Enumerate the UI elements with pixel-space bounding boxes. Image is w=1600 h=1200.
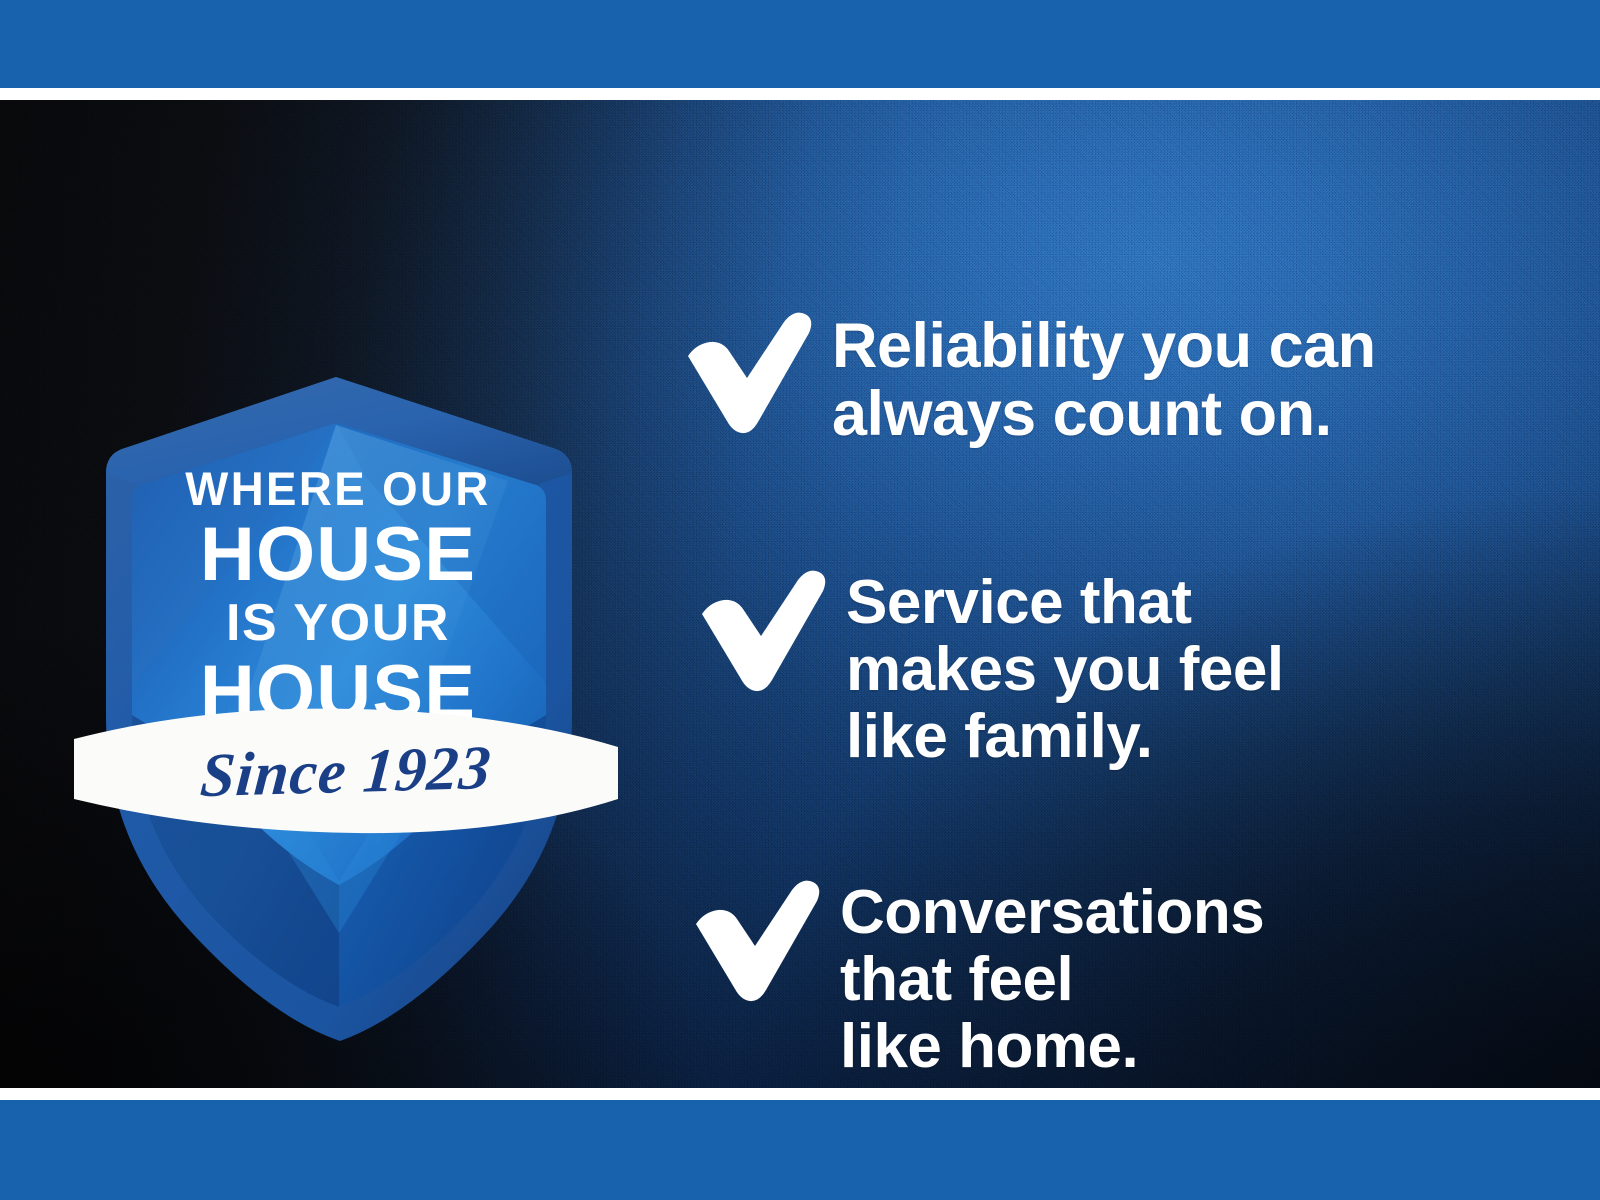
emblem-line-is-your: Is Your [78,597,598,649]
benefit-text-1: Reliability you can always count on. [832,312,1376,448]
ribbon-banner: Since 1923 [66,703,626,841]
ribbon-label: Since 1923 [61,695,631,849]
shield-emblem: Where Our House Is Your House Since 1923 [78,285,598,1045]
checkmark-icon [686,568,832,698]
benefit-item-1: Reliability you can always count on. [672,310,1376,448]
benefit-item-2: Service that makes you feel like family. [686,568,1284,771]
checkmark-glyph [680,878,826,1008]
top-brand-bar [0,0,1600,88]
checkmark-glyph [672,310,818,440]
benefit-text-2: Service that makes you feel like family. [846,570,1284,771]
checkmark-glyph [686,568,832,698]
emblem-line-where-our: Where Our [86,465,590,512]
checkmark-icon [680,878,826,1008]
checkmark-icon [672,310,818,440]
benefit-text-3: Conversations that feel like home. [840,880,1264,1081]
benefits-list: Reliability you can always count on. Ser… [672,200,1552,1088]
benefit-item-3: Conversations that feel like home. [680,878,1264,1081]
main-panel: Where Our House Is Your House Since 1923 [0,100,1600,1088]
bottom-brand-bar [0,1100,1600,1200]
promo-poster: Where Our House Is Your House Since 1923 [0,0,1600,1200]
emblem-line-house-1: House [78,517,598,593]
